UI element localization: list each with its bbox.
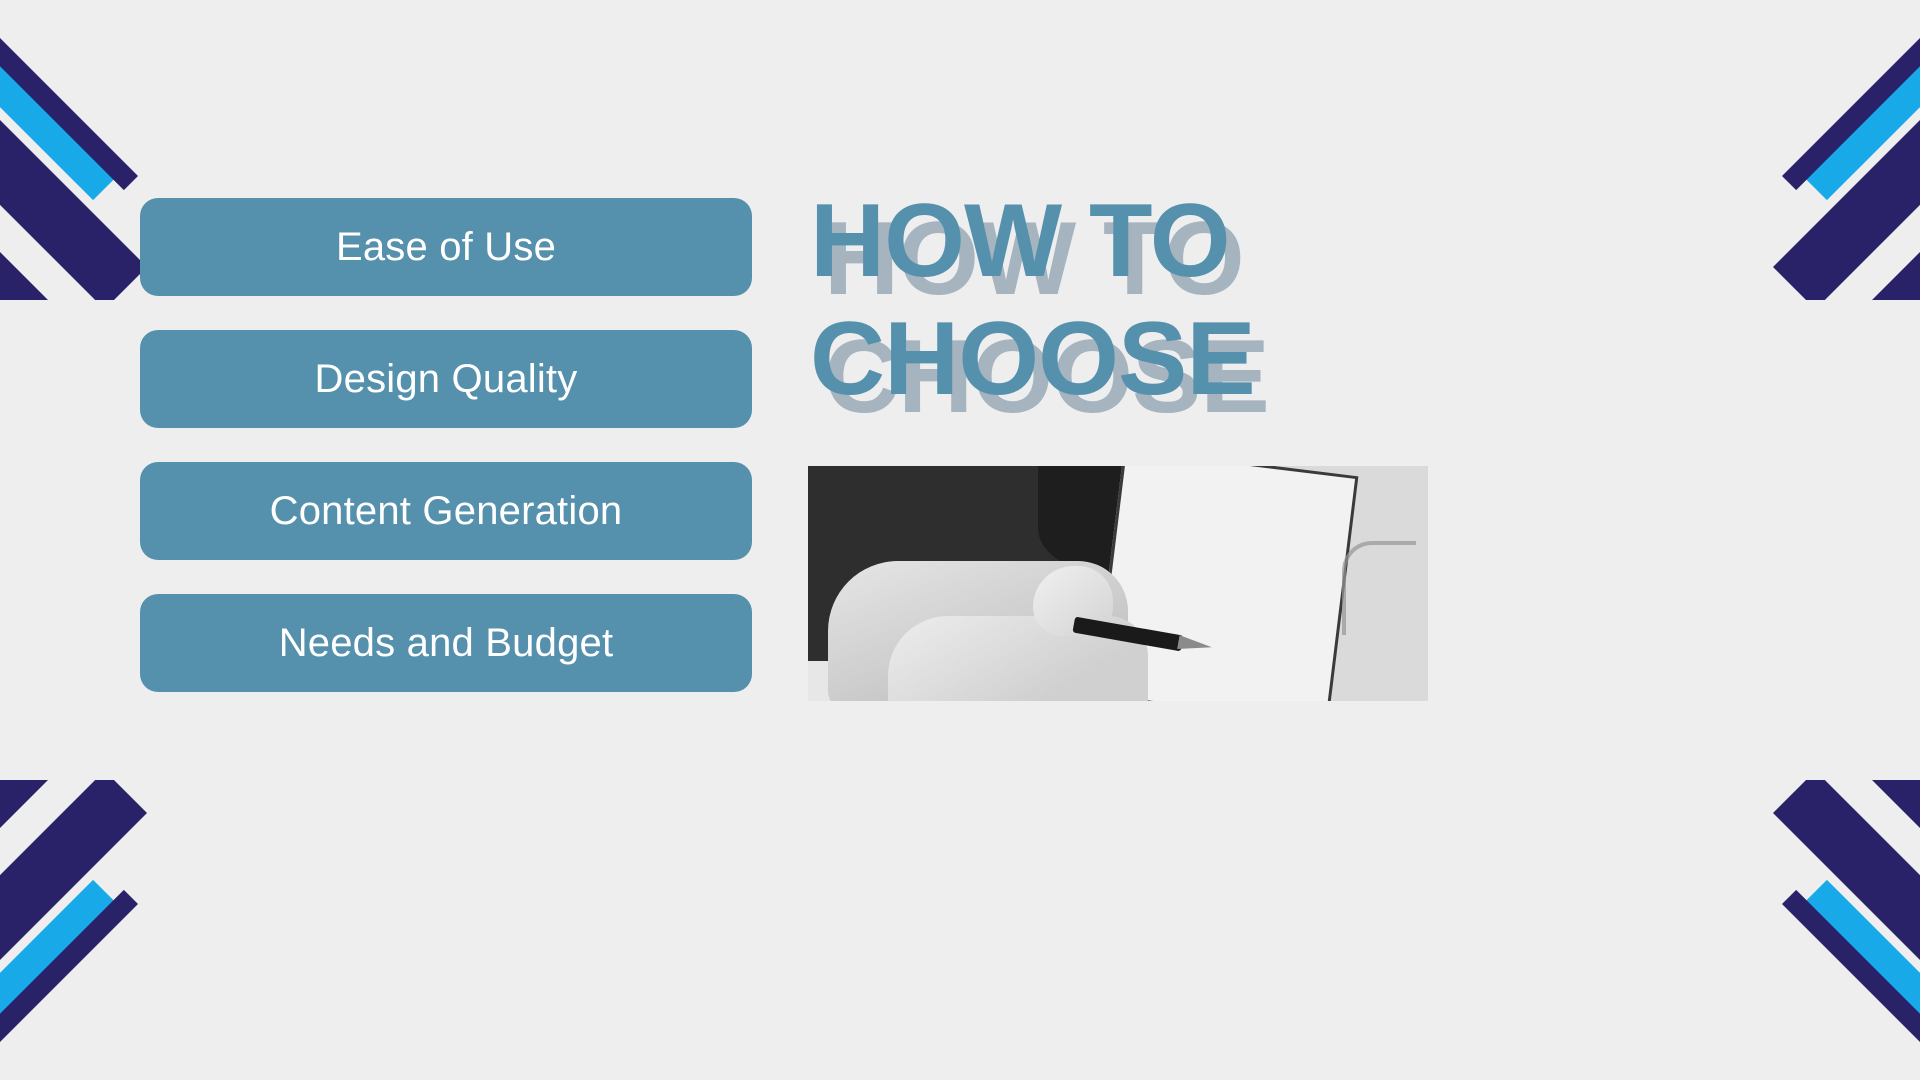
page-title: HOW TO CHOOSE [810, 192, 1450, 410]
decor-stripe-cyan [0, 0, 117, 200]
decor-stripe-navy-wide [1762, 42, 1920, 300]
decor-stripe-navy-wide [0, 780, 158, 1038]
option-button-label: Content Generation [270, 491, 623, 531]
corner-decoration-top-right [1620, 0, 1920, 300]
decor-stripe-navy [0, 0, 147, 300]
decor-stripe-cyan [0, 880, 117, 1080]
decor-stripe-navy-thin [1782, 0, 1920, 190]
decor-stripe-blue [1732, 780, 1920, 946]
decor-stripe-blue [1732, 134, 1920, 300]
hero-photo [808, 466, 1428, 701]
option-button-needs-and-budget[interactable]: Needs and Budget [140, 594, 752, 692]
corner-decoration-bottom-right [1620, 780, 1920, 1080]
option-button-label: Ease of Use [336, 227, 556, 267]
option-button-label: Design Quality [315, 359, 578, 399]
decor-stripe-blue [0, 780, 188, 946]
page-title-line-2: CHOOSE [810, 310, 1450, 410]
page-title-line-1: HOW TO [810, 192, 1450, 292]
decor-stripe-navy [1773, 780, 1920, 1080]
decor-stripe-cyan [1803, 880, 1920, 1080]
photo-background-chair [1342, 541, 1416, 635]
option-button-list: Ease of Use Design Quality Content Gener… [140, 198, 752, 726]
decor-stripe-navy [1773, 0, 1920, 300]
decor-stripe-navy-wide [0, 42, 158, 300]
option-button-label: Needs and Budget [279, 623, 614, 663]
decor-stripe-navy-thin [0, 890, 138, 1080]
decor-stripe-navy-wide [1762, 780, 1920, 1038]
decor-stripe-navy-thin [1782, 890, 1920, 1080]
corner-decoration-bottom-left [0, 780, 300, 1080]
decor-stripe-cyan [1803, 0, 1920, 200]
option-button-ease-of-use[interactable]: Ease of Use [140, 198, 752, 296]
option-button-content-generation[interactable]: Content Generation [140, 462, 752, 560]
decor-stripe-navy [0, 780, 147, 1080]
option-button-design-quality[interactable]: Design Quality [140, 330, 752, 428]
decor-stripe-navy-thin [0, 0, 138, 190]
